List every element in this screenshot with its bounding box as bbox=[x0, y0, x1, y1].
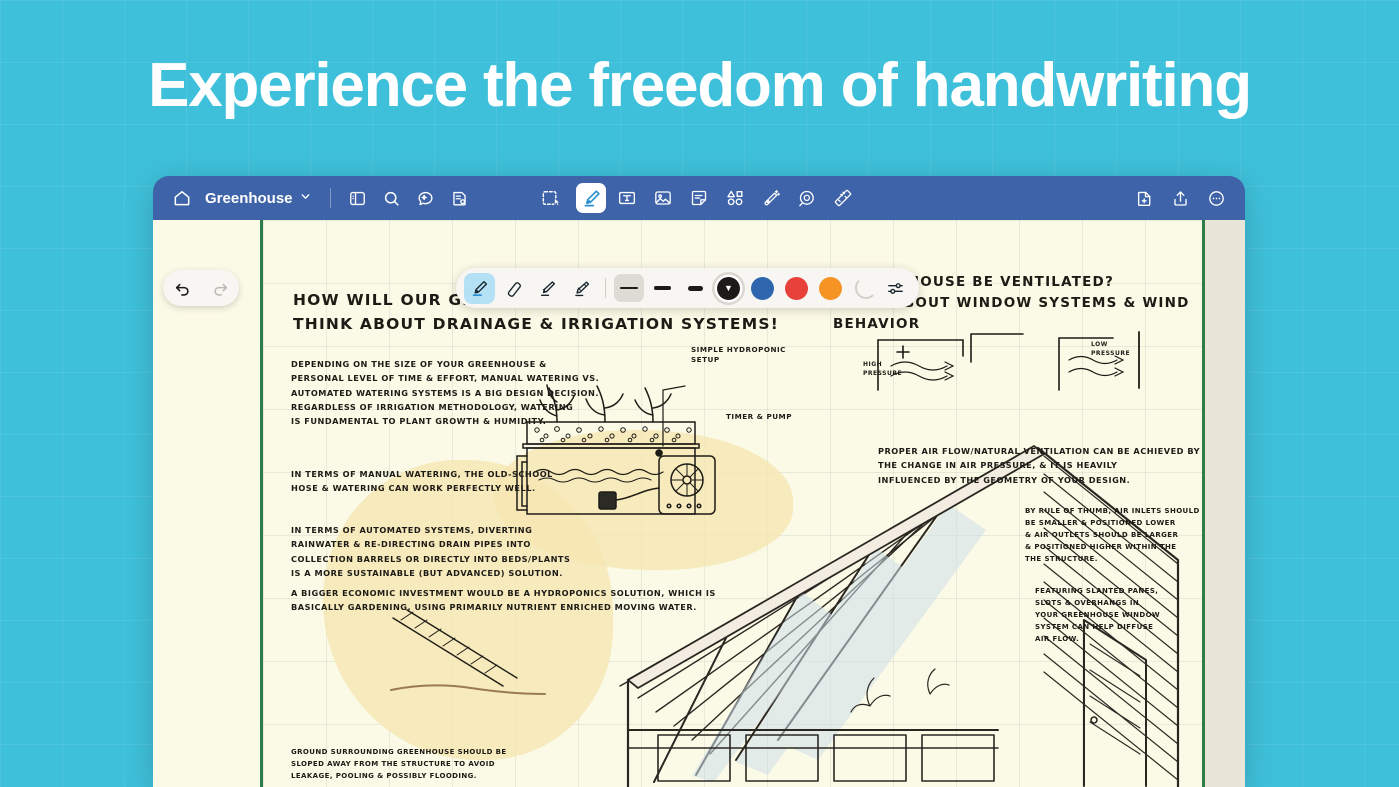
pen-toolbar: ▼ bbox=[456, 268, 919, 308]
document-outline-icon[interactable] bbox=[445, 183, 475, 213]
document-name-label: Greenhouse bbox=[205, 190, 293, 207]
ruler-icon[interactable] bbox=[828, 183, 858, 213]
note-paragraph-4: A BIGGER ECONOMIC INVESTMENT WOULD BE A … bbox=[291, 586, 716, 615]
sliders-settings-icon[interactable] bbox=[880, 273, 911, 304]
stroke-width-thin[interactable] bbox=[614, 274, 644, 302]
color-swatch-blue[interactable] bbox=[751, 277, 774, 300]
highlighter-tool-icon[interactable] bbox=[532, 273, 563, 304]
pen-toolbar-divider bbox=[605, 278, 606, 298]
sticky-note-icon[interactable] bbox=[684, 183, 714, 213]
page-title: Experience the freedom of handwriting bbox=[0, 52, 1399, 120]
undo-redo-toolbar bbox=[163, 270, 239, 306]
note-paragraph-2: IN TERMS OF MANUAL WATERING, THE OLD-SCH… bbox=[291, 467, 553, 496]
label-high-pressure: HIGH PRESSURE bbox=[863, 360, 902, 378]
label-low-pressure: LOW PRESSURE bbox=[1091, 340, 1130, 358]
note-paragraph-5: GROUND SURROUNDING GREENHOUSE SHOULD BE … bbox=[291, 747, 507, 783]
home-icon[interactable] bbox=[167, 183, 197, 213]
color-swatch-orange[interactable] bbox=[819, 277, 842, 300]
eraser-tool-icon[interactable] bbox=[498, 273, 529, 304]
sticker-icon[interactable] bbox=[792, 183, 822, 213]
pen-icon[interactable] bbox=[576, 183, 606, 213]
color-swatch-black[interactable]: ▼ bbox=[717, 277, 740, 300]
undo-icon[interactable] bbox=[173, 279, 192, 298]
color-swatch-red[interactable] bbox=[785, 277, 808, 300]
magic-wand-icon[interactable] bbox=[756, 183, 786, 213]
lasso-select-icon[interactable] bbox=[540, 183, 570, 213]
app-toolbar: Greenhouse bbox=[153, 176, 1245, 220]
text-box-icon[interactable] bbox=[612, 183, 642, 213]
note-paragraph-3: IN TERMS OF AUTOMATED SYSTEMS, DIVERTING… bbox=[291, 523, 570, 580]
opacity-dial-icon[interactable] bbox=[855, 277, 877, 299]
image-icon[interactable] bbox=[648, 183, 678, 213]
note-paragraph-8: FEATURING SLANTED PANES, SLOTS & OVERHAN… bbox=[1035, 586, 1160, 645]
document-name-menu[interactable]: Greenhouse bbox=[201, 190, 318, 207]
add-page-icon[interactable] bbox=[1129, 183, 1159, 213]
note-paragraph-6: PROPER AIR FLOW/NATURAL VENTILATION CAN … bbox=[878, 444, 1200, 487]
marker-tool-icon[interactable] bbox=[566, 273, 597, 304]
chevron-down-icon bbox=[299, 190, 312, 207]
label-hydroponic-setup: SIMPLE HYDROPONIC SETUP bbox=[691, 345, 786, 366]
label-timer-pump: TIMER & PUMP bbox=[726, 412, 792, 422]
stroke-width-thick[interactable] bbox=[680, 274, 710, 302]
note-paragraph-1: DEPENDING ON THE SIZE OF YOUR GREENHOUSE… bbox=[291, 357, 599, 429]
redo-icon[interactable] bbox=[211, 279, 230, 298]
note-paragraph-7: BY RULE OF THUMB, AIR INLETS SHOULD BE S… bbox=[1025, 506, 1200, 565]
chevron-down-icon: ▼ bbox=[724, 284, 733, 293]
pen-tool-icon[interactable] bbox=[464, 273, 495, 304]
note-canvas[interactable]: S OF GREENHOU bbox=[153, 220, 1245, 787]
shapes-icon[interactable] bbox=[720, 183, 750, 213]
more-options-icon[interactable] bbox=[1201, 183, 1231, 213]
app-window: Greenhouse bbox=[153, 176, 1245, 787]
toolbar-divider bbox=[330, 188, 331, 208]
stroke-width-medium[interactable] bbox=[647, 274, 677, 302]
sidebar-toggle-icon[interactable] bbox=[343, 183, 373, 213]
share-icon[interactable] bbox=[1165, 183, 1195, 213]
search-icon[interactable] bbox=[377, 183, 407, 213]
page-vertical-title: S OF GREENHOU bbox=[241, 220, 263, 787]
ai-assist-icon[interactable] bbox=[411, 183, 441, 213]
